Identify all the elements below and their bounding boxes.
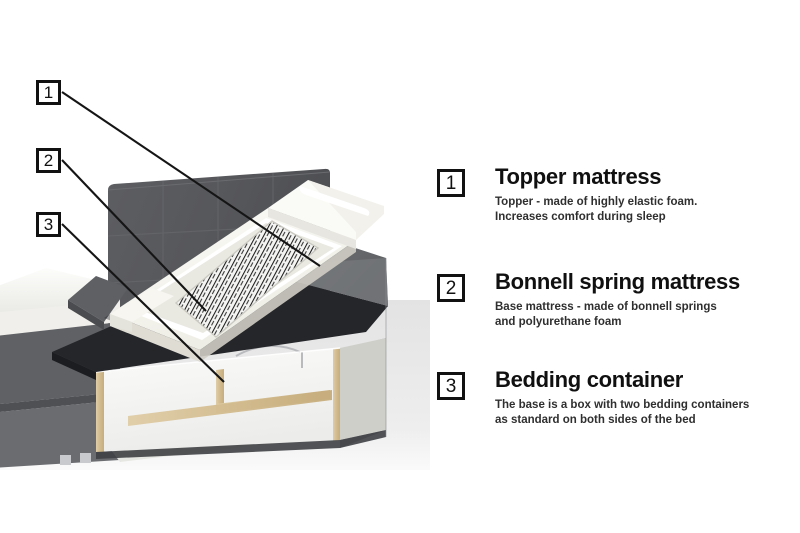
legend-title: Topper mattress bbox=[495, 165, 800, 188]
legend-number-badge-1: 1 bbox=[437, 169, 465, 197]
legend-description-line: and polyurethane foam bbox=[495, 315, 800, 330]
legend-description: Topper - made of highly elastic foam. In… bbox=[495, 195, 800, 226]
legend-number-badge-3: 3 bbox=[437, 372, 465, 400]
legend-description-line: The base is a box with two bedding conta… bbox=[495, 398, 800, 413]
callout-number-2: 2 bbox=[36, 148, 61, 173]
bed-foot bbox=[80, 453, 91, 463]
product-diagram: 1 2 3 1 Topper mattress Topper - made of… bbox=[0, 0, 800, 533]
legend-text-block: Bedding container The base is a box with… bbox=[495, 368, 800, 429]
wood-edge-strip bbox=[333, 348, 340, 441]
callout-number-3: 3 bbox=[36, 212, 61, 237]
legend-description-line: Increases comfort during sleep bbox=[495, 210, 800, 225]
legend-text-block: Bonnell spring mattress Base mattress - … bbox=[495, 270, 800, 331]
legend-panel: 1 Topper mattress Topper - made of highl… bbox=[430, 0, 800, 533]
wood-edge-strip bbox=[96, 371, 104, 452]
legend-text-block: Topper mattress Topper - made of highly … bbox=[495, 165, 800, 226]
legend-description: Base mattress - made of bonnell springs … bbox=[495, 300, 800, 331]
legend-description-line: as standard on both sides of the bed bbox=[495, 413, 800, 428]
callout-number-1: 1 bbox=[36, 80, 61, 105]
legend-description-line: Topper - made of highly elastic foam. bbox=[495, 195, 800, 210]
legend-number-badge-2: 2 bbox=[437, 274, 465, 302]
legend-title: Bonnell spring mattress bbox=[495, 270, 800, 293]
bed-cutaway-illustration bbox=[0, 0, 430, 500]
legend-title: Bedding container bbox=[495, 368, 800, 391]
bed-foot bbox=[60, 455, 71, 465]
legend-description-line: Base mattress - made of bonnell springs bbox=[495, 300, 800, 315]
legend-description: The base is a box with two bedding conta… bbox=[495, 398, 800, 429]
